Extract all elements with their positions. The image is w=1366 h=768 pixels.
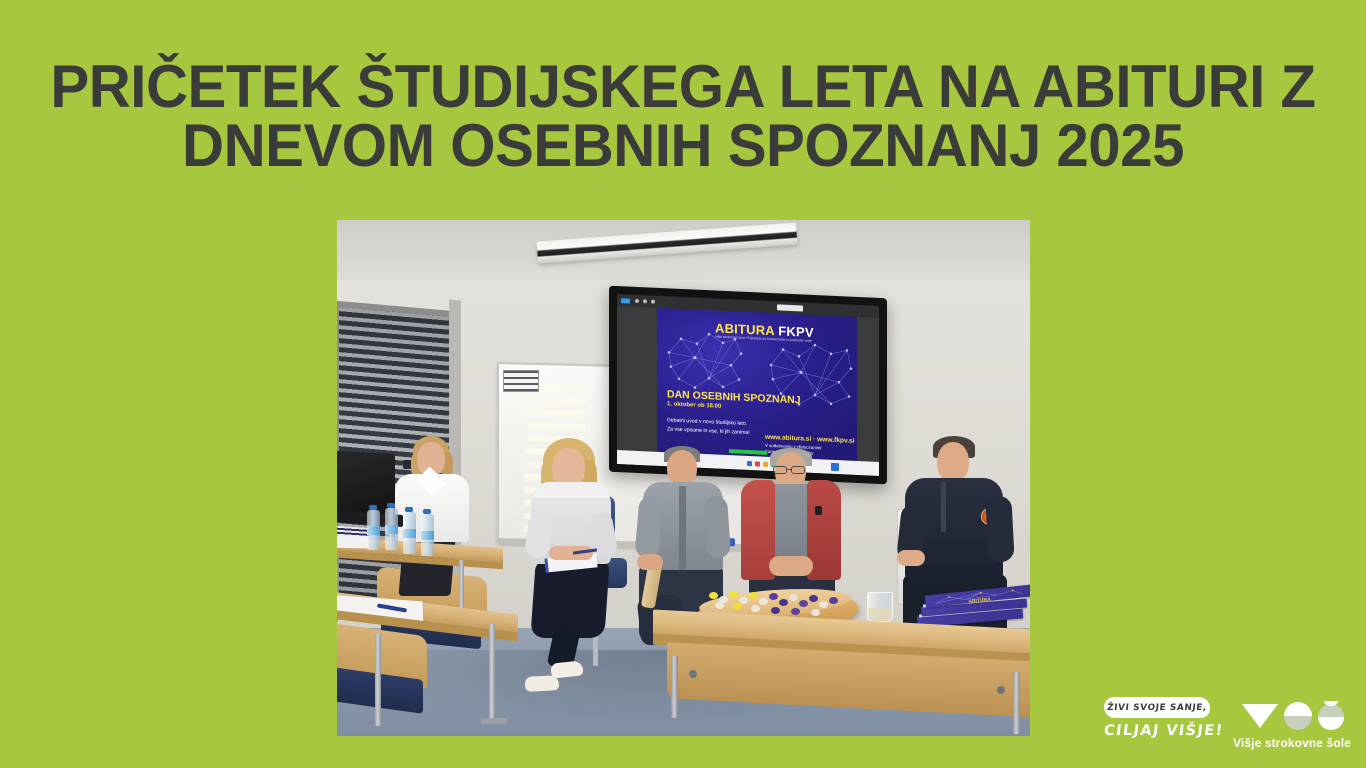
person-4-glasses-bridge bbox=[787, 469, 792, 470]
circle-caron-icon bbox=[1318, 701, 1344, 730]
person-3-shirt-placket bbox=[679, 486, 686, 570]
abitura-slide: ABITURA FKPV višja strokovna šola • Faku… bbox=[657, 308, 857, 463]
candy bbox=[829, 597, 838, 604]
front-left-desk-leg bbox=[375, 634, 381, 726]
person-2-hands bbox=[549, 546, 593, 560]
slide-body-line-1: Debatni uvod v novo študijsko leto. bbox=[667, 417, 747, 427]
table-bolt bbox=[997, 686, 1005, 694]
candy bbox=[729, 591, 738, 598]
candy bbox=[809, 595, 818, 602]
candy bbox=[759, 598, 768, 605]
bottle-label bbox=[421, 531, 434, 540]
page-title-line-2: DNEVOM OSEBNIH SPOZNANJ 2025 bbox=[20, 117, 1345, 176]
bottle-label bbox=[367, 526, 380, 535]
person-3-head bbox=[667, 450, 697, 486]
display-url-chip bbox=[777, 304, 803, 311]
person-4-jacket-pocket bbox=[815, 506, 822, 515]
candy bbox=[733, 603, 742, 610]
front-table-leg bbox=[1013, 672, 1020, 734]
bottle-label bbox=[403, 529, 416, 538]
page-title: PRIČETEK ŠTUDIJSKEGA LETA NA ABITURI Z D… bbox=[20, 58, 1345, 176]
paper-sheet bbox=[337, 536, 369, 549]
person-3-arm-right bbox=[703, 495, 731, 559]
brand-name: Višje strokovne šole bbox=[1232, 736, 1352, 750]
candy bbox=[791, 608, 800, 615]
plastic-cup-contents bbox=[868, 608, 892, 621]
front-table-leg bbox=[671, 656, 678, 718]
slogan-line-2: CILJAJ VIŠJE! bbox=[1103, 723, 1217, 739]
candy bbox=[789, 594, 798, 601]
circle-split-icon bbox=[1284, 702, 1312, 730]
candy bbox=[715, 602, 724, 609]
table-bolt bbox=[689, 670, 697, 678]
display-tool-dot bbox=[651, 300, 655, 304]
taskbar-icon bbox=[763, 462, 768, 467]
person-5-arm-right bbox=[985, 495, 1014, 562]
candy bbox=[811, 609, 820, 616]
candy bbox=[799, 600, 808, 607]
bottle-cap bbox=[369, 505, 377, 510]
slogan-pill: ŽIVI SVOJE SANJE, bbox=[1104, 697, 1210, 718]
candy bbox=[751, 605, 760, 612]
display-tab-active bbox=[621, 298, 630, 303]
brand-mark-svg bbox=[1232, 698, 1352, 732]
taskbar-icon bbox=[755, 461, 760, 466]
bottle-cap bbox=[423, 509, 431, 514]
person-2-blouse-ruffle bbox=[533, 482, 609, 498]
page-title-line-1: PRIČETEK ŠTUDIJSKEGA LETA NA ABITURI Z bbox=[20, 58, 1345, 117]
front-left-desk-leg bbox=[489, 624, 495, 720]
triangle-down-icon bbox=[1242, 704, 1278, 728]
event-photo: ABITURA FKPV višja strokovna šola • Faku… bbox=[337, 220, 1030, 736]
person-4-glasses-lens-left bbox=[773, 466, 787, 474]
interactive-display-screen: ABITURA FKPV višja strokovna šola • Faku… bbox=[617, 294, 879, 476]
person-4-glasses-lens-right bbox=[791, 466, 805, 474]
person-5-head bbox=[937, 442, 969, 482]
display-right-toolbar bbox=[857, 305, 879, 476]
person-3-hand bbox=[637, 554, 663, 570]
person-5-uniform-zip bbox=[941, 482, 946, 532]
candy bbox=[819, 601, 828, 608]
candy bbox=[769, 593, 778, 600]
brand-logo: Višje strokovne šole bbox=[1232, 698, 1352, 750]
desk-foot bbox=[481, 718, 507, 724]
display-left-toolbar bbox=[617, 294, 657, 466]
candy bbox=[771, 607, 780, 614]
taskbar-icon bbox=[747, 461, 752, 466]
brand-mark bbox=[1232, 698, 1352, 732]
taskbar-windows-icon bbox=[831, 463, 839, 471]
display-tool-dot bbox=[635, 299, 639, 303]
bottle-cap bbox=[387, 503, 395, 508]
candy bbox=[779, 599, 788, 606]
person-5-hand bbox=[897, 550, 925, 566]
candy bbox=[709, 592, 718, 599]
person-4-hands bbox=[769, 556, 813, 576]
slide-date: 1. oktober ob 18.00 bbox=[667, 401, 721, 409]
slide-body-line-2: Za vse vpisane in vse, ki jih zanima! bbox=[667, 426, 750, 436]
whiteboard-notice bbox=[503, 370, 539, 392]
bottle-cap bbox=[405, 507, 413, 512]
display-tool-dot bbox=[643, 299, 647, 303]
bottle-label bbox=[385, 525, 398, 534]
slogan-block: ŽIVI SVOJE SANJE, CILJAJ VIŠJE! bbox=[1104, 697, 1216, 739]
candy bbox=[749, 592, 758, 599]
slogan-line-1: ŽIVI SVOJE SANJE, bbox=[1107, 702, 1208, 712]
